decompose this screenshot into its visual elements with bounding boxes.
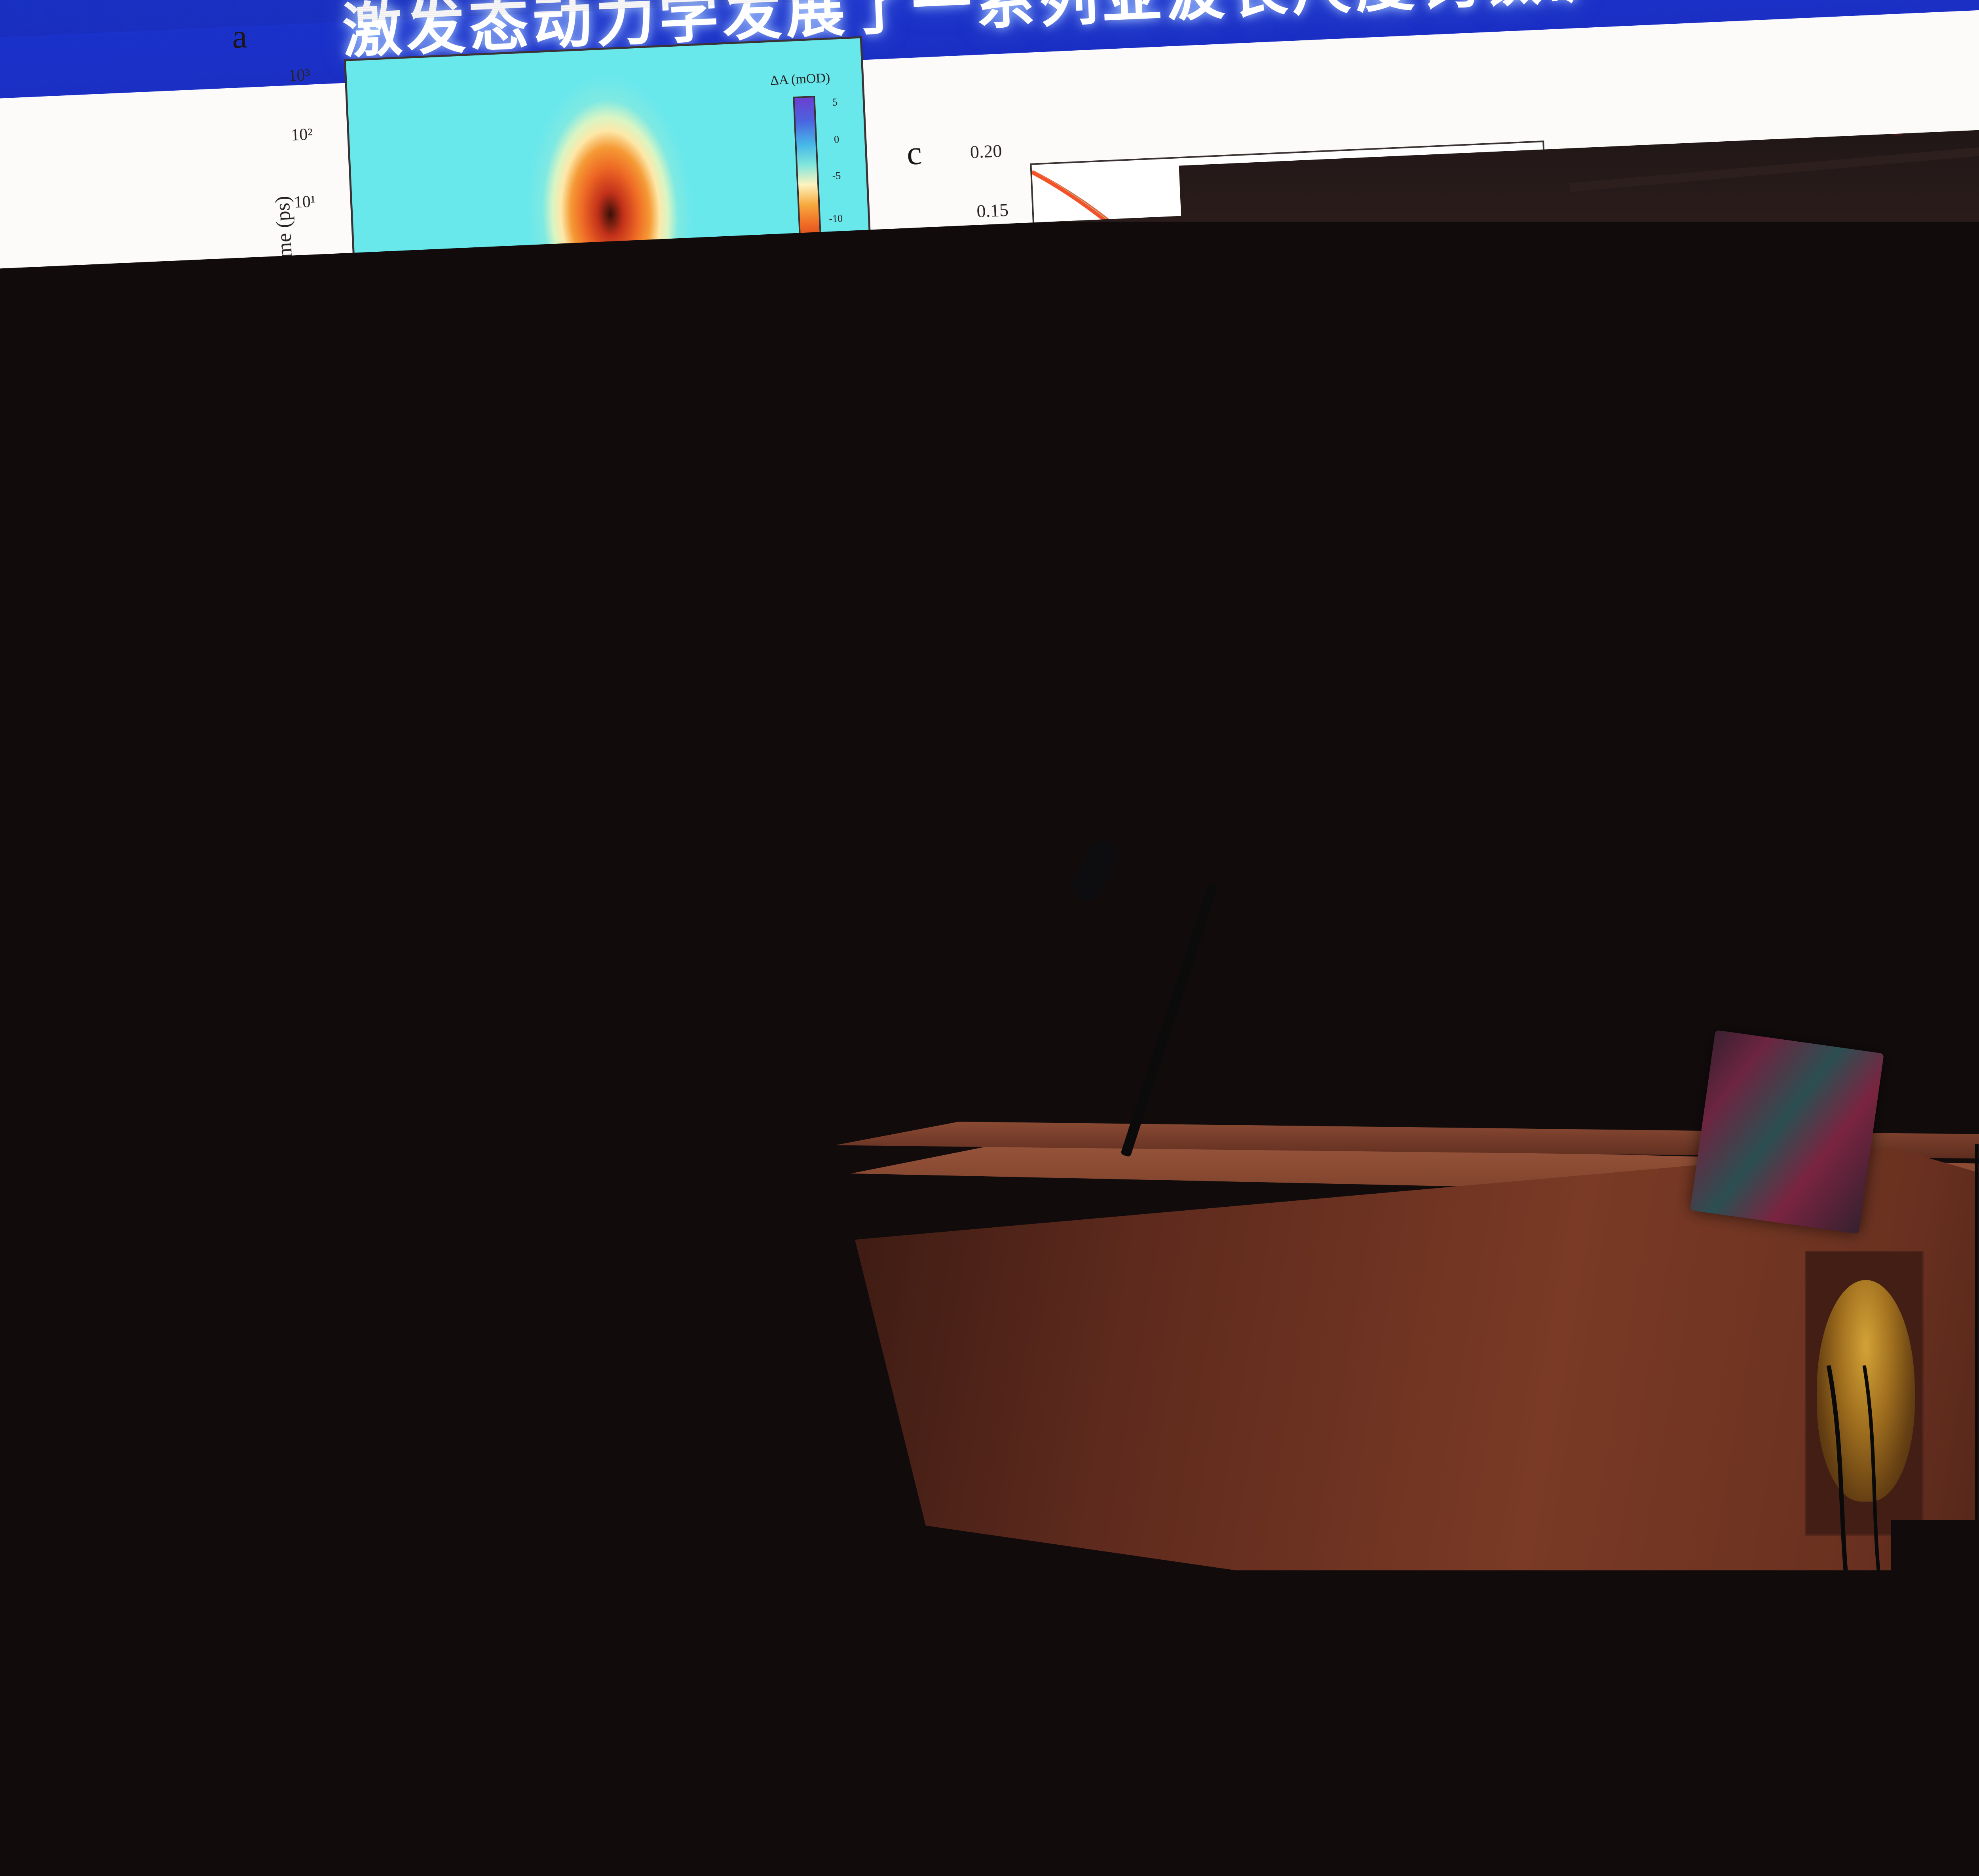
panel-c-legend: 0 0.55 1.17 3.14 4.93 7.62 10.32 11.66 xyxy=(1060,235,1137,388)
panel-a-colorbar-tick: -15 xyxy=(830,253,845,266)
panel-b-ytick: 10⁻¹ xyxy=(315,666,346,687)
panel-g-ytick: 0.04 xyxy=(1626,301,1658,323)
panel-c-ytick: 0.20 xyxy=(970,140,1003,163)
legend-swatch-icon xyxy=(1060,242,1098,247)
legend-item: 4.93 xyxy=(1064,313,1135,330)
panel-a-ylabel: Time (ps) xyxy=(271,196,298,276)
panel-letter-h: h xyxy=(1594,462,1612,503)
legend-swatch-icon xyxy=(1066,359,1104,363)
panel-a-plot: ΔA (mOD) 5 0 -5 -10 -15 xyxy=(344,36,876,379)
panel-b-ytick: 10³ xyxy=(304,413,326,433)
panel-a-ytick: 10⁻¹ xyxy=(299,321,330,342)
panel-c-ytick: 0.00 xyxy=(997,389,1029,411)
panel-e-ytick: 10⁻² xyxy=(316,1457,350,1480)
panel-letter-e: e xyxy=(136,1268,153,1308)
legend-label: 11.66 xyxy=(1109,370,1137,386)
panel-c-inset: 0.03 0.02 0.01 0.00 480 500 520 540 xyxy=(1277,154,1529,315)
legend-swatch-icon xyxy=(1062,262,1100,266)
legend-item: 10.32 xyxy=(1065,351,1136,368)
panel-c-ytick: 0.15 xyxy=(976,199,1009,222)
panel-g-curves xyxy=(1704,293,1979,521)
panel-letter-b: b xyxy=(250,368,268,408)
floor-cables xyxy=(1781,1365,1979,1849)
laptop-screen[interactable] xyxy=(1690,1030,1884,1234)
panel-c-ytick: 0.05 xyxy=(990,325,1023,348)
panel-a-ytick: 10⁰ xyxy=(296,259,321,280)
panel-b-xtick: 480 xyxy=(365,729,392,750)
legend-label: 0 xyxy=(1103,236,1110,251)
panel-k-annotation-low: 6.67 μJ/cm² xyxy=(1784,904,1875,930)
panel-a-colorbar-tick: 0 xyxy=(834,133,839,146)
legend-label: 7.62 xyxy=(1107,332,1130,347)
panel-c-inset-xtick: 480 xyxy=(1286,304,1301,315)
underwater-caption: Underwater xyxy=(419,817,546,849)
panel-h-ytick: 0.00 xyxy=(1669,681,1700,703)
panel-b-xtick: 540 xyxy=(660,729,687,751)
panel-letter-a: a xyxy=(231,16,248,57)
legend-label: 10.32 xyxy=(1108,351,1136,366)
panel-e-ytick: 10⁰ xyxy=(307,1331,334,1353)
panel-a-ytick: 10² xyxy=(291,125,313,144)
panel-g-ylabel: -ΔA xyxy=(1631,406,1656,442)
panel-b-ylabel: Time (ps) xyxy=(286,543,313,624)
panel-h-curves xyxy=(1722,518,1979,746)
panel-a-ytick: 10³ xyxy=(288,66,311,85)
panel-c-ytick: 0.10 xyxy=(983,263,1016,286)
legend-label: 3.14 xyxy=(1105,293,1128,308)
panel-g-plot: CsPbBr₃ xyxy=(1702,292,1979,522)
panel-c-optical-gain-annotation: Optical gain xyxy=(1319,385,1421,413)
cn-headline: 水中稳 xyxy=(378,1170,669,1320)
legend-swatch-icon xyxy=(1065,339,1103,344)
panel-a-colorbar-title: ΔA (mOD) xyxy=(770,70,830,88)
panel-h-ytick: 0.02 xyxy=(1660,602,1691,624)
panel-h-plot: CsPbBr₃:TPPO xyxy=(1720,517,1979,746)
panel-d-xtick: 30 xyxy=(1495,820,1513,841)
panel-h-xtick: 400 xyxy=(1916,753,1943,774)
panel-letter-c: c xyxy=(906,133,923,173)
legend-label: 0.55 xyxy=(1104,254,1126,270)
panel-h-ytick: 0.04 xyxy=(1649,526,1680,547)
panel-h-xlabel: Time (ps) xyxy=(1917,777,1979,803)
panel-e-ytick: 10¹ xyxy=(303,1269,327,1291)
legend-item: 0.55 xyxy=(1061,254,1132,272)
legend-item: 3.14 xyxy=(1063,293,1134,311)
panel-a-heatmap xyxy=(346,38,874,378)
panel-a-colorbar-tick: -10 xyxy=(829,213,843,225)
panel-letter-g: g xyxy=(1573,265,1592,306)
panel-e-ytick: 10⁻³ xyxy=(320,1520,354,1543)
panel-c-inset-legend xyxy=(1485,171,1509,181)
legend-swatch-icon xyxy=(1063,300,1101,305)
panel-b-ytick: 10¹ xyxy=(309,535,331,555)
legend-item: 7.62 xyxy=(1065,332,1136,349)
podium-base xyxy=(1108,1619,1757,1856)
panel-c-ylabel: αd (a.u.) xyxy=(957,297,982,365)
panel-b-xtick: 500 xyxy=(462,729,489,750)
panel-g-ytick: 0.02 xyxy=(1638,376,1669,397)
panel-a-colorbar-tick: 5 xyxy=(832,96,838,108)
panel-a-colorbar-tick: -5 xyxy=(832,170,841,182)
legend-label: 4.93 xyxy=(1106,313,1128,328)
panel-b-ytick: 10² xyxy=(306,473,329,493)
panel-b-se-annotation: SE xyxy=(615,503,642,529)
legend-swatch-icon xyxy=(1067,378,1105,382)
conference-room-scene: 激发态动力学发展了一系列亚波长尺度钙钛矿 a ΔA (mOD) 5 0 -5 -… xyxy=(0,0,1979,1849)
panel-g-ytick: 0.00 xyxy=(1647,455,1679,476)
panel-e-ylabel: Normalized intensity (a.u.) xyxy=(253,1393,286,1570)
panel-a-xtick: 480 xyxy=(350,385,377,406)
panel-h-xtick: 0 xyxy=(1722,754,1731,774)
panel-e-ytick: 10⁻¹ xyxy=(311,1394,346,1416)
legend-item: 1.17 xyxy=(1062,274,1133,291)
legend-swatch-icon xyxy=(1062,281,1100,285)
legend-swatch-icon xyxy=(1064,320,1102,324)
legend-label: 1.17 xyxy=(1105,274,1127,289)
panel-a-ytick: 10¹ xyxy=(294,192,316,212)
legend-item: 0 xyxy=(1060,235,1131,253)
panel-h-xtick: 200 xyxy=(1813,752,1840,774)
panel-b-ytick: 10⁰ xyxy=(312,602,336,623)
panel-b-xlabel: Wavelength (nm) xyxy=(486,744,629,773)
panel-k-annotation-high: 28.67 μJ/cm² xyxy=(1769,827,1869,853)
